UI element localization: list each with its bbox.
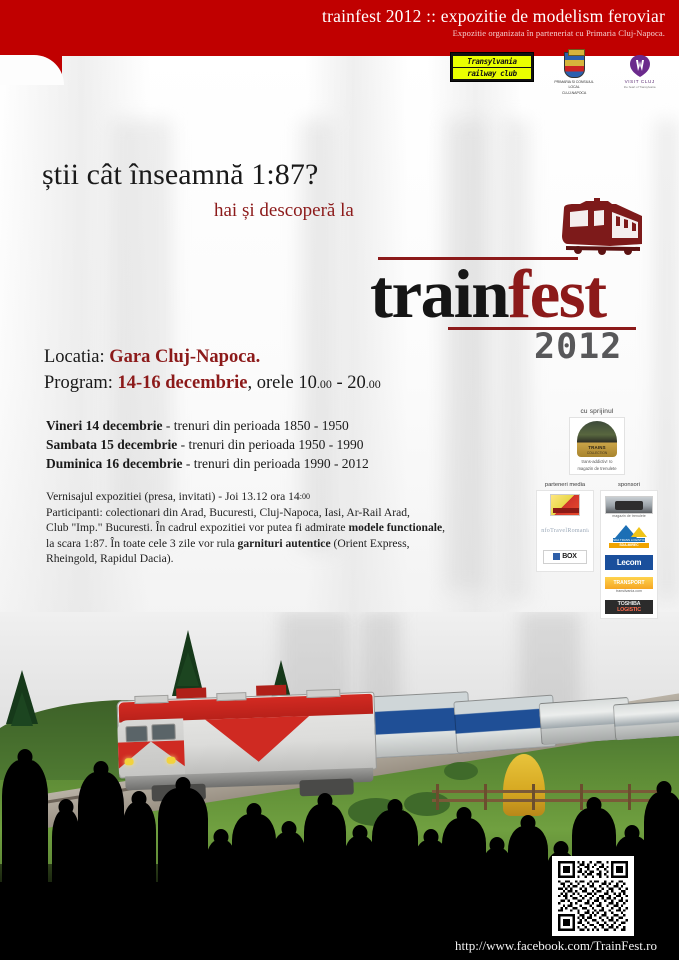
- paragraph-line-4: la scara 1:87. În toate cele 3 zile vor …: [46, 536, 446, 552]
- person-head: [554, 841, 569, 857]
- location-value: Gara Cluj-Napoca.: [109, 347, 260, 367]
- lecom-logo-text: Lecom: [617, 558, 641, 567]
- location-label: Locatia:: [44, 347, 105, 367]
- loco-roof-equipment-3: [306, 689, 340, 698]
- person-silhouette: [52, 810, 80, 960]
- prima-tv-logo-icon: [550, 494, 580, 516]
- support-logo-card: TRAINS COLLECTION trans-addictiv! ro mag…: [569, 417, 625, 475]
- lecom-logo-icon: Lecom: [605, 555, 653, 570]
- program-hours-t1: .00: [317, 377, 332, 391]
- crest-caption-line2: CLUJ-NAPOCA: [550, 91, 599, 96]
- qr-code-image: [557, 861, 629, 931]
- arrow-yellow: [631, 527, 647, 537]
- box-logo-text: BOX: [562, 553, 577, 560]
- program-hours-a: , orele 10: [247, 373, 316, 393]
- support-logo-line2: COLLECTION: [577, 451, 617, 455]
- paragraph-3c: ,: [442, 521, 445, 534]
- person-head: [657, 781, 672, 797]
- paragraph-3a: Club "Imp." Bucuresti. În cadrul expozit…: [46, 521, 348, 534]
- crest-caption-line1: PRIMARIA SI CONSILIUL LOCAL: [550, 80, 599, 89]
- poster-root: trainfest 2012 :: expozitie de modelism …: [0, 0, 679, 960]
- loco-pantograph-1: [176, 688, 206, 699]
- toshiba-logistic-logo-icon: TOSHIBA LOGISTIC: [605, 600, 653, 614]
- header-title: trainfest 2012 :: expozitie de modelism …: [322, 6, 665, 27]
- person-head: [94, 761, 109, 777]
- media-logo-item: BOX: [541, 546, 589, 568]
- paragraph-4a: la scara 1:87. În toate cele 3 zile vor …: [46, 537, 238, 550]
- schedule-row: Vineri 14 decembrie - trenuri din perioa…: [46, 416, 369, 435]
- paragraph-line-1: Vernisajul expozitiei (presa, invitati) …: [46, 489, 446, 505]
- sponsor-logo-item: TRANSPORT transilvania.com: [605, 575, 653, 595]
- sponsors-title: sponsori: [600, 482, 658, 488]
- program-dates: 14-16 decembrie: [117, 373, 247, 393]
- schedule-detail: - trenuri din perioada 1950 - 1990: [177, 437, 363, 452]
- trc-logo-line2: railway club: [453, 68, 531, 79]
- person-head: [521, 815, 536, 831]
- headline-question: știi cât înseamnă 1:87?: [42, 158, 318, 192]
- sponsor-logo-item: Lecom: [605, 554, 653, 571]
- program-hours-t2: .00: [366, 377, 381, 391]
- support-logo-line1: TRAINS: [577, 445, 617, 450]
- paragraph-bold-models: modele functionale: [348, 521, 442, 534]
- sponsor-columns: parteneri media InfoTravelRomania BOX: [531, 482, 663, 619]
- schedule-row: Sambata 15 decembrie - trenuri din perio…: [46, 435, 369, 454]
- person-silhouette: [2, 760, 48, 960]
- person-head: [282, 821, 297, 837]
- media-partners-column: parteneri media InfoTravelRomania BOX: [536, 482, 594, 619]
- sponsor-logo-item: TOSHIBA LOGISTIC: [605, 599, 653, 615]
- trainfest-logo: trainfest 2012: [360, 196, 660, 366]
- person-head: [318, 793, 333, 809]
- person-head: [424, 829, 439, 845]
- vernissage-text: Vernisajul expozitiei (presa, invitati) …: [46, 490, 300, 503]
- yellow-logo-caption: transilvania.com: [616, 589, 642, 594]
- location-line: Locatia: Gara Cluj-Napoca.: [44, 344, 381, 370]
- schedule-detail: - trenuri din perioada 1850 - 1950: [162, 418, 348, 433]
- schedule-day: Vineri 14 decembrie: [46, 418, 162, 433]
- infotravel-logo-text: InfoTravelRomania: [541, 528, 589, 534]
- program-hours-dash: - 20: [332, 373, 366, 393]
- loco-roof-equipment-1: [134, 695, 168, 704]
- transport-yellow-logo-icon: TRANSPORT: [605, 577, 653, 589]
- facebook-url[interactable]: http://www.facebook.com/TrainFest.ro: [455, 938, 657, 954]
- yellow-logo-text: TRANSPORT: [613, 580, 644, 586]
- support-caption-2: magazin de trenulete: [572, 466, 622, 471]
- schedule-day: Duminica 16 decembrie: [46, 456, 182, 471]
- person-silhouette: [122, 802, 156, 960]
- media-logo-item: [541, 494, 589, 516]
- sponsors-list: magazin de trenulete SDA TRANS LOGISTIC …: [600, 490, 658, 619]
- sda-main-text: SDA-MIREC: [609, 543, 649, 548]
- person-silhouette: [304, 804, 346, 960]
- vernissage-minutes: :00: [300, 492, 310, 501]
- box-logo-square: [553, 553, 560, 560]
- paragraph-bold-consists: garnituri autentice: [238, 537, 331, 550]
- schedule-list: Vineri 14 decembrie - trenuri din perioa…: [46, 416, 369, 473]
- locomotive-illustration-icon: [550, 196, 646, 258]
- headline-invite: hai și descoperă la: [214, 200, 354, 222]
- train-photo-logo-caption: magazin de trenulete: [612, 514, 646, 519]
- person-silhouette: [232, 814, 276, 960]
- loco-roof-equipment-2: [216, 692, 246, 701]
- person-silhouette: [272, 832, 306, 960]
- wordmark-fest: fest: [508, 256, 605, 332]
- person-silhouette: [78, 772, 124, 960]
- qr-code[interactable]: [552, 856, 634, 936]
- sda-mirec-logo-icon: SDA TRANS LOGISTIC SDA-MIREC: [605, 525, 653, 549]
- paragraph-line-3: Club "Imp." Bucuresti. În cadrul expozit…: [46, 520, 446, 536]
- box-logo-icon: BOX: [543, 550, 587, 564]
- wordmark-train: train: [370, 256, 508, 332]
- trc-logo-line1: Transylvania: [453, 56, 531, 67]
- program-label: Program:: [44, 373, 113, 393]
- media-logo-item: InfoTravelRomania: [541, 520, 589, 542]
- person-head: [457, 807, 472, 823]
- person-head: [587, 797, 602, 813]
- description-paragraph: Vernisajul expozitiei (presa, invitati) …: [46, 489, 446, 567]
- support-caption-1: trans-addictiv! ro: [572, 459, 622, 464]
- schedule-row: Duminica 16 decembrie - trenuri din peri…: [46, 454, 369, 473]
- trainfest-wordmark: trainfest: [370, 254, 606, 334]
- sponsor-logo-item: magazin de trenulete: [605, 494, 653, 520]
- paragraph-4c: (Orient Express,: [331, 537, 410, 550]
- visit-cluj-logo: VISIT CLUJ the heart of Transylvania: [614, 52, 665, 89]
- partner-logos: Transylvania railway club PRIMARIA SI CO…: [450, 52, 665, 100]
- program-line: Program: 14-16 decembrie, orele 10.00 - …: [44, 370, 381, 397]
- train-photo-logo-icon: [605, 496, 653, 514]
- logo-year: 2012: [534, 327, 622, 367]
- visit-cluj-mark-icon: [625, 52, 655, 78]
- person-head: [247, 803, 262, 819]
- event-info: Locatia: Gara Cluj-Napoca. Program: 14-1…: [44, 344, 381, 397]
- person-head: [214, 829, 229, 845]
- person-head: [132, 791, 147, 807]
- person-head: [18, 749, 33, 765]
- paragraph-line-5: Rheingold, Rapidul Dacia).: [46, 551, 446, 567]
- schedule-detail: - trenuri din perioada 1990 - 2012: [182, 456, 368, 471]
- transylvania-railway-club-logo: Transylvania railway club: [450, 52, 534, 82]
- support-title: cu sprijinul: [531, 408, 663, 415]
- cluj-napoca-crest-logo: PRIMARIA SI CONSILIUL LOCAL CLUJ-NAPOCA: [550, 52, 599, 96]
- sponsor-logo-item: SDA TRANS LOGISTIC SDA-MIREC: [605, 524, 653, 550]
- person-head: [625, 825, 640, 841]
- sda-sub-text: SDA TRANS LOGISTIC: [613, 538, 645, 542]
- sponsors-panel: cu sprijinul TRAINS COLLECTION trans-add…: [531, 408, 663, 608]
- person-silhouette: [158, 788, 208, 960]
- person-head: [59, 799, 74, 815]
- header-subtitle: Expozitie organizata în parteneriat cu P…: [453, 28, 665, 38]
- person-silhouette: [372, 810, 418, 960]
- person-silhouette: [644, 792, 679, 960]
- trains-collection-badge-icon: TRAINS COLLECTION: [577, 421, 617, 457]
- coat-of-arms-icon: [564, 52, 585, 78]
- person-head: [388, 799, 403, 815]
- paragraph-line-2: Participanti: colectionari din Arad, Buc…: [46, 505, 446, 521]
- pine-tree-icon: [6, 670, 38, 724]
- person-head: [353, 825, 368, 841]
- visit-cluj-tagline: the heart of Transylvania: [614, 85, 665, 89]
- schedule-day: Sambata 15 decembrie: [46, 437, 177, 452]
- person-head: [176, 777, 191, 793]
- sponsors-column: sponsori magazin de trenulete SDA TRANS …: [600, 482, 658, 619]
- dark-logo-sub: LOGISTIC: [617, 607, 641, 613]
- person-head: [490, 837, 505, 853]
- loco-pantograph-2: [256, 685, 286, 696]
- media-partners-title: parteneri media: [536, 482, 594, 488]
- media-partners-list: InfoTravelRomania BOX: [536, 490, 594, 572]
